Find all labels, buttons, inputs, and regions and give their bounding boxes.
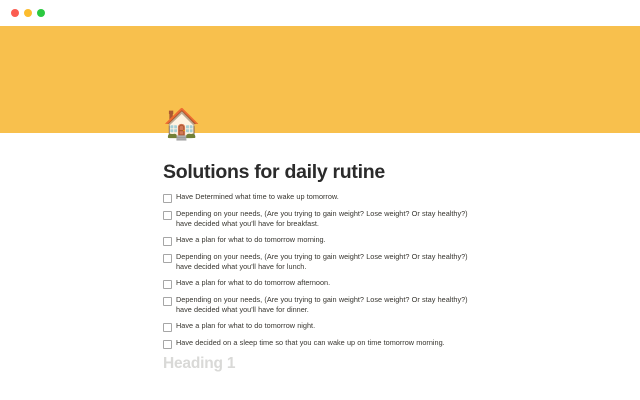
checkbox-icon[interactable] <box>163 237 172 246</box>
todo-item[interactable]: Have Determined what time to wake up tom… <box>163 192 473 203</box>
minimize-window-button[interactable] <box>24 9 32 17</box>
page-title[interactable]: Solutions for daily rutine <box>163 161 385 184</box>
todo-item-label[interactable]: Have Determined what time to wake up tom… <box>176 192 473 203</box>
todo-item[interactable]: Have a plan for what to do tomorrow afte… <box>163 278 473 289</box>
page-cover-banner[interactable] <box>0 26 640 133</box>
todo-item-label[interactable]: Depending on your needs, (Are you trying… <box>176 209 473 230</box>
checkbox-icon[interactable] <box>163 254 172 263</box>
page-content-area: 🏠 Solutions for daily rutine Have Determ… <box>0 133 640 400</box>
todo-item[interactable]: Have decided on a sleep time so that you… <box>163 338 473 349</box>
window-title-bar <box>0 0 640 26</box>
todo-item-label[interactable]: Depending on your needs, (Are you trying… <box>176 295 473 316</box>
traffic-light-controls <box>11 9 45 17</box>
todo-item-label[interactable]: Depending on your needs, (Are you trying… <box>176 252 473 273</box>
checkbox-icon[interactable] <box>163 323 172 332</box>
todo-item-label[interactable]: Have a plan for what to do tomorrow morn… <box>176 235 473 246</box>
todo-checklist: Have Determined what time to wake up tom… <box>163 192 473 354</box>
house-emoji-icon[interactable]: 🏠 <box>163 109 197 143</box>
todo-item[interactable]: Have a plan for what to do tomorrow morn… <box>163 235 473 246</box>
todo-item-label[interactable]: Have decided on a sleep time so that you… <box>176 338 473 349</box>
todo-item[interactable]: Have a plan for what to do tomorrow nigh… <box>163 321 473 332</box>
close-window-button[interactable] <box>11 9 19 17</box>
todo-item-label[interactable]: Have a plan for what to do tomorrow afte… <box>176 278 473 289</box>
todo-item[interactable]: Depending on your needs, (Are you trying… <box>163 209 473 230</box>
checkbox-icon[interactable] <box>163 211 172 220</box>
heading-1-placeholder[interactable]: Heading 1 <box>163 355 235 373</box>
checkbox-icon[interactable] <box>163 297 172 306</box>
checkbox-icon[interactable] <box>163 194 172 203</box>
todo-item[interactable]: Depending on your needs, (Are you trying… <box>163 295 473 316</box>
maximize-window-button[interactable] <box>37 9 45 17</box>
todo-item-label[interactable]: Have a plan for what to do tomorrow nigh… <box>176 321 473 332</box>
checkbox-icon[interactable] <box>163 340 172 349</box>
todo-item[interactable]: Depending on your needs, (Are you trying… <box>163 252 473 273</box>
checkbox-icon[interactable] <box>163 280 172 289</box>
